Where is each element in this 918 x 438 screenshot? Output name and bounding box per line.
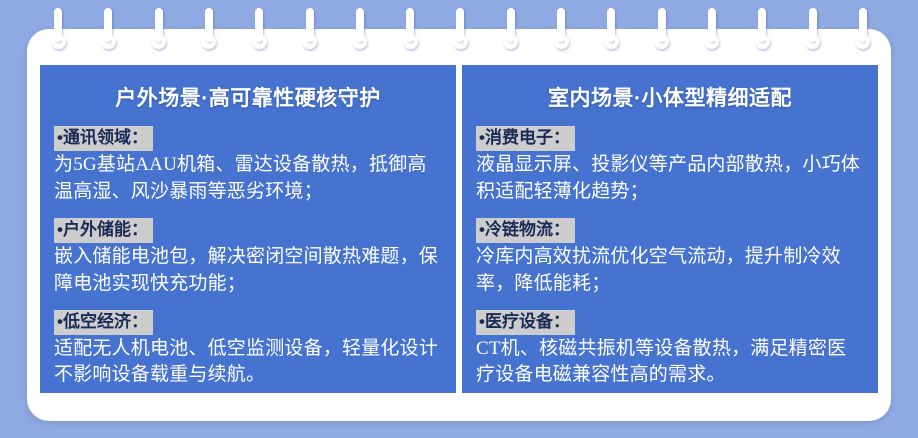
- panel-group: 户外场景·高可靠性硬核守护 •通讯领域： 为5G基站AAU机箱、雷达设备散热，抵…: [40, 65, 878, 393]
- panel-indoor: 室内场景·小体型精细适配 •消费电子： 液晶显示屏、投影仪等产品内部散热，小巧体…: [462, 65, 878, 393]
- entry-body: 为5G基站AAU机箱、雷达设备散热，抵御高温高湿、风沙暴雨等恶劣环境；: [54, 152, 442, 204]
- entry-label: •户外储能：: [54, 218, 153, 243]
- entry-label: •消费电子：: [476, 126, 575, 151]
- entry-body: 嵌入储能电池包，解决密闭空间散热难题，保障电池实现快充功能；: [54, 244, 442, 296]
- panel-title: 室内场景·小体型精细适配: [476, 82, 864, 112]
- panel-outdoor: 户外场景·高可靠性硬核守护 •通讯领域： 为5G基站AAU机箱、雷达设备散热，抵…: [40, 65, 456, 393]
- entry-item: •低空经济： 适配无人机电池、低空监测设备，轻量化设计不影响设备载重与续航。: [54, 310, 442, 389]
- entry-item: •医疗设备： CT机、核磁共振机等设备散热，满足精密医疗设备电磁兼容性高的需求。: [476, 310, 864, 389]
- entry-label: •医疗设备：: [476, 310, 575, 335]
- entry-item: •冷链物流： 冷库内高效扰流优化空气流动，提升制冷效率，降低能耗；: [476, 218, 864, 297]
- entry-item: •通讯领域： 为5G基站AAU机箱、雷达设备散热，抵御高温高湿、风沙暴雨等恶劣环…: [54, 126, 442, 205]
- entry-item: •消费电子： 液晶显示屏、投影仪等产品内部散热，小巧体积适配轻薄化趋势；: [476, 126, 864, 205]
- entry-label: •冷链物流：: [476, 218, 575, 243]
- entry-body: 液晶显示屏、投影仪等产品内部散热，小巧体积适配轻薄化趋势；: [476, 152, 864, 204]
- entry-label: •低空经济：: [54, 310, 153, 335]
- panel-title: 户外场景·高可靠性硬核守护: [54, 82, 442, 112]
- entry-label: •通讯领域：: [54, 126, 153, 151]
- infographic-canvas: 户外场景·高可靠性硬核守护 •通讯领域： 为5G基站AAU机箱、雷达设备散热，抵…: [0, 0, 918, 438]
- entry-body: CT机、核磁共振机等设备散热，满足精密医疗设备电磁兼容性高的需求。: [476, 336, 864, 388]
- entry-body: 冷库内高效扰流优化空气流动，提升制冷效率，降低能耗；: [476, 244, 864, 296]
- entry-item: •户外储能： 嵌入储能电池包，解决密闭空间散热难题，保障电池实现快充功能；: [54, 218, 442, 297]
- entry-body: 适配无人机电池、低空监测设备，轻量化设计不影响设备载重与续航。: [54, 336, 442, 388]
